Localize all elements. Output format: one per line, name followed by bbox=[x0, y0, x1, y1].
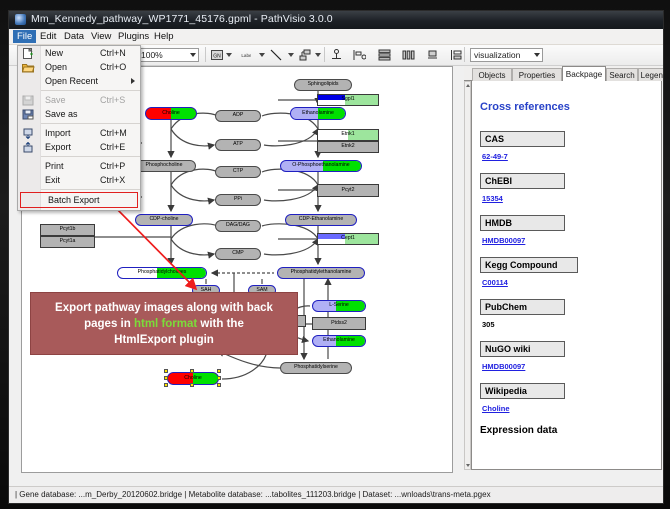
callout-line2-a: pages in bbox=[84, 318, 134, 330]
menu-item-new[interactable]: New Ctrl+N bbox=[18, 46, 140, 60]
callout-line3: HtmlExport plugin bbox=[114, 334, 214, 346]
node-cdp-choline[interactable]: CDP-choline bbox=[135, 214, 193, 226]
node-sphingolipids[interactable]: Sphingolipids bbox=[294, 79, 352, 91]
node-dag[interactable]: DAG/DAG bbox=[215, 220, 261, 232]
svg-text:GN: GN bbox=[213, 54, 221, 60]
visualization-value: visualization bbox=[474, 50, 520, 60]
menu-item-print[interactable]: Print Ctrl+P bbox=[18, 159, 140, 173]
save-disk-icon bbox=[22, 95, 36, 106]
menu-separator bbox=[40, 123, 140, 124]
xref-value-kegg[interactable]: C00114 bbox=[482, 278, 657, 287]
visualization-combo[interactable]: visualization bbox=[470, 48, 543, 62]
selection-handle[interactable] bbox=[217, 383, 221, 387]
selection-handle[interactable] bbox=[164, 376, 168, 380]
datanode-dropdown-icon[interactable] bbox=[226, 53, 232, 57]
gene-sgpl1[interactable]: Sgpl1 bbox=[317, 94, 379, 106]
xref-value-wikipedia[interactable]: Choline bbox=[482, 404, 657, 413]
submenu-arrow-icon bbox=[131, 78, 135, 84]
open-folder-icon bbox=[22, 62, 36, 73]
node-choline[interactable]: Choline bbox=[145, 107, 197, 120]
node-o-phosphoethanolamine[interactable]: O-Phosphoethanolamine bbox=[280, 160, 362, 172]
xref-value-pubchem: 305 bbox=[482, 320, 657, 329]
save-as-icon bbox=[22, 109, 36, 120]
distribute-button[interactable] bbox=[401, 48, 415, 62]
connector-dropdown-icon[interactable] bbox=[315, 53, 321, 57]
title-bar: Mm_Kennedy_pathway_WP1771_45176.gpml - P… bbox=[9, 11, 663, 29]
menu-file[interactable]: File bbox=[13, 30, 36, 43]
menu-item-save: Save Ctrl+S bbox=[18, 93, 140, 107]
gene-pcyt2[interactable]: Pcyt2 bbox=[317, 184, 379, 197]
menu-item-open-recent[interactable]: Open Recent bbox=[18, 74, 140, 88]
xref-value-hmdb[interactable]: HMDB00097 bbox=[482, 236, 657, 245]
gene-etnk1[interactable]: Etnk1 bbox=[317, 129, 379, 141]
node-adp[interactable]: ADP bbox=[215, 110, 261, 122]
stack-button[interactable] bbox=[377, 48, 391, 62]
xref-source-hmdb: HMDB bbox=[480, 215, 565, 231]
xref-source-nugo: NuGO wiki bbox=[480, 341, 565, 357]
node-phosphatidylethanolamine[interactable]: Phosphatidylethanolamine bbox=[277, 267, 365, 279]
gene-cept1[interactable]: Cept1 bbox=[317, 233, 379, 245]
tab-search[interactable]: Search bbox=[606, 68, 638, 81]
backpage-content: Cross references CAS 62-49-7 ChEBI 15354… bbox=[471, 81, 662, 470]
selection-handle[interactable] bbox=[164, 369, 168, 373]
menu-plugins[interactable]: Plugins bbox=[114, 30, 153, 43]
tab-objects[interactable]: Objects bbox=[472, 68, 512, 81]
line-dropdown-icon[interactable] bbox=[288, 53, 294, 57]
status-bar: | Gene database: ...m_Derby_20120602.bri… bbox=[9, 486, 663, 503]
menu-item-import[interactable]: Import Ctrl+M bbox=[18, 126, 140, 140]
datanode-button[interactable]: GN bbox=[210, 48, 224, 62]
tab-properties[interactable]: Properties bbox=[512, 68, 562, 81]
node-ethanolamine-2[interactable]: Ethanolamine bbox=[312, 335, 366, 347]
chevron-down-icon bbox=[190, 53, 196, 57]
menu-edit[interactable]: Edit bbox=[36, 30, 60, 43]
menu-help[interactable]: Help bbox=[150, 30, 178, 43]
gene-pcyt1b[interactable]: Pcyt1b bbox=[40, 224, 95, 236]
menu-bar: File Edit Data View Plugins Help bbox=[9, 29, 663, 45]
callout-line1: Export pathway images along with back bbox=[55, 302, 273, 314]
new-file-icon bbox=[22, 48, 36, 59]
menu-item-open[interactable]: Open Ctrl+O bbox=[18, 60, 140, 74]
desktop-background: Mm_Kennedy_pathway_WP1771_45176.gpml - P… bbox=[0, 0, 670, 509]
node-phosphocholine[interactable]: Phosphocholine bbox=[132, 160, 196, 172]
node-cmp[interactable]: CMP bbox=[215, 248, 261, 260]
side-panel: Objects Properties Backpage Search Legen… bbox=[464, 66, 662, 471]
align-top-button[interactable] bbox=[329, 48, 343, 62]
pathvisio-icon bbox=[15, 14, 26, 25]
callout-text: Export pathway images along with back pa… bbox=[50, 300, 278, 348]
align-left-button[interactable] bbox=[352, 48, 366, 62]
xref-source-pubchem: PubChem bbox=[480, 299, 565, 315]
group-button[interactable] bbox=[425, 48, 439, 62]
label-dropdown-icon[interactable] bbox=[259, 53, 265, 57]
node-l-serine[interactable]: L-Serine bbox=[312, 300, 366, 312]
menu-data[interactable]: Data bbox=[60, 30, 88, 43]
selected-node-choline[interactable]: Choline bbox=[167, 372, 219, 385]
toolbar-separator bbox=[464, 47, 465, 62]
menu-view[interactable]: View bbox=[87, 30, 115, 43]
svg-text:Label: Label bbox=[241, 53, 251, 58]
menu-separator bbox=[40, 156, 140, 157]
xref-source-wikipedia: Wikipedia bbox=[480, 383, 565, 399]
menu-item-export[interactable]: Export Ctrl+E bbox=[18, 140, 140, 154]
xref-value-nugo[interactable]: HMDB00097 bbox=[482, 362, 657, 371]
scroll-down-icon[interactable] bbox=[466, 464, 470, 467]
selection-handle[interactable] bbox=[217, 369, 221, 373]
import-icon bbox=[22, 128, 36, 139]
callout-line2-b: with the bbox=[197, 318, 244, 330]
zoom-combo[interactable]: 100% bbox=[137, 48, 199, 62]
node-ppi[interactable]: PPi bbox=[215, 194, 261, 206]
menu-item-save-as[interactable]: Save as bbox=[18, 107, 140, 121]
order-button[interactable] bbox=[449, 48, 463, 62]
node-cdp-ethanolamine[interactable]: CDP-Ethanolamine bbox=[285, 214, 357, 226]
callout-highlight: html format bbox=[134, 318, 197, 330]
zoom-value: 100% bbox=[141, 50, 163, 60]
status-text: | Gene database: ...m_Derby_20120602.bri… bbox=[15, 490, 491, 499]
node-phosphatidylserine[interactable]: Phosphatidylserine bbox=[280, 362, 352, 374]
menu-separator bbox=[40, 90, 140, 91]
pathvisio-window: Mm_Kennedy_pathway_WP1771_45176.gpml - P… bbox=[8, 10, 664, 504]
node-ethanolamine[interactable]: Ethanolamine bbox=[290, 107, 346, 120]
tab-legend[interactable]: Legend bbox=[638, 68, 664, 81]
xref-source-kegg: Kegg Compound bbox=[480, 257, 578, 273]
gene-pcyt1a[interactable]: Pcyt1a bbox=[40, 236, 95, 248]
node-atp[interactable]: ATP bbox=[215, 139, 261, 151]
xref-value-cas[interactable]: 62-49-7 bbox=[482, 152, 657, 161]
window-title: Mm_Kennedy_pathway_WP1771_45176.gpml - P… bbox=[31, 13, 333, 25]
panel-tab-strip: Objects Properties Backpage Search Legen… bbox=[464, 66, 662, 81]
xref-source-chebi: ChEBI bbox=[480, 173, 565, 189]
gene-ptdss2[interactable]: Ptdss2 bbox=[312, 317, 366, 330]
file-menu-dropdown[interactable]: New Ctrl+N Open Ctrl+O Open Recent Save … bbox=[17, 45, 141, 211]
node-ctp[interactable]: CTP bbox=[215, 166, 261, 178]
gene-etnk2[interactable]: Etnk2 bbox=[317, 141, 379, 153]
menu-item-batch-export[interactable]: Batch Export bbox=[20, 192, 138, 208]
xref-value-chebi[interactable]: 15354 bbox=[482, 194, 657, 203]
node-phosphatidylcholines[interactable]: Phosphatidylcholines bbox=[117, 267, 207, 279]
menu-separator bbox=[40, 189, 140, 190]
label-button[interactable]: Label bbox=[237, 48, 251, 62]
annotation-callout: Export pathway images along with back pa… bbox=[30, 292, 298, 355]
line-button[interactable] bbox=[269, 48, 283, 62]
connector-button[interactable] bbox=[298, 48, 312, 62]
scroll-up-icon[interactable] bbox=[466, 84, 470, 87]
toolbar-separator bbox=[205, 47, 206, 62]
menu-item-exit[interactable]: Exit Ctrl+X bbox=[18, 173, 140, 187]
toolbar-separator bbox=[324, 47, 325, 62]
tab-backpage[interactable]: Backpage bbox=[562, 66, 606, 81]
export-icon bbox=[22, 142, 36, 153]
cross-references-title: Cross references bbox=[480, 101, 657, 113]
chevron-down-icon bbox=[534, 53, 540, 57]
expression-data-heading: Expression data bbox=[480, 425, 657, 436]
selection-handle[interactable] bbox=[164, 383, 168, 387]
panel-scrollbar[interactable] bbox=[464, 81, 471, 470]
xref-source-cas: CAS bbox=[480, 131, 565, 147]
